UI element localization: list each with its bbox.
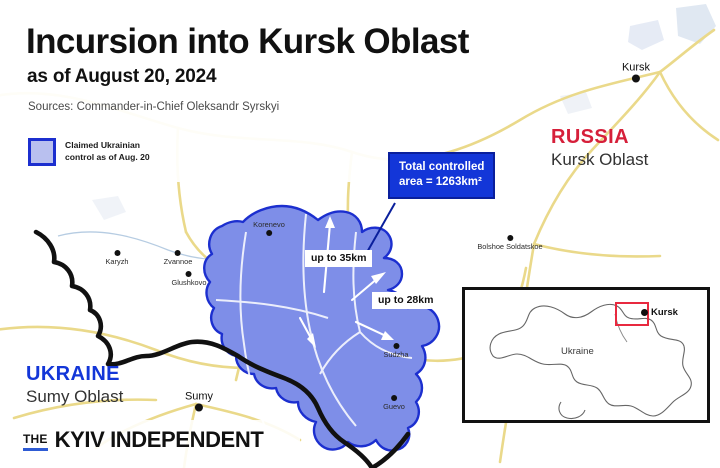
total-area-text: Total controlled area = 1263km² — [399, 160, 484, 190]
city-dot — [195, 404, 203, 412]
russia-name: RUSSIA — [551, 126, 648, 149]
inset-ukraine-label: Ukraine — [561, 346, 594, 357]
city-label-guevo: Guevo — [383, 395, 405, 411]
city-dot — [175, 250, 181, 256]
city-label-glushkovo: Glushkovo — [172, 271, 207, 287]
city-label-kursk: Kursk — [622, 62, 650, 83]
city-dot — [114, 250, 120, 256]
ukraine-name: UKRAINE — [26, 363, 123, 386]
city-name: Korenevo — [253, 220, 285, 229]
city-name: Guevo — [383, 402, 405, 411]
city-name: Karyzh — [105, 257, 128, 266]
city-name: Glushkovo — [172, 278, 207, 287]
logo-wordmark: KYIV INDEPENDENT — [55, 429, 264, 451]
depth-label-east: up to 28km — [372, 292, 439, 309]
inset-kursk-dot — [641, 309, 648, 316]
city-label-sudzha: Sudzha — [383, 343, 408, 359]
city-label-bolshoe-soldatskoe: Bolshoe Soldatskoe — [477, 235, 542, 251]
city-dot — [632, 75, 640, 83]
inset-locator-map: Kursk Ukraine — [462, 287, 710, 423]
legend: Claimed Ukrainian control as of Aug. 20 — [28, 138, 150, 166]
legend-label: Claimed Ukrainian control as of Aug. 20 — [65, 140, 150, 163]
map-infographic: Incursion into Kursk Oblast as of August… — [0, 0, 720, 468]
city-dot — [391, 395, 397, 401]
city-label-karyzh: Karyzh — [105, 250, 128, 266]
city-name: Zvannoe — [164, 257, 193, 266]
total-area-callout: Total controlled area = 1263km² — [388, 152, 495, 199]
ukraine-region: Sumy Oblast — [26, 387, 123, 407]
depth-label-north: up to 35km — [305, 250, 372, 267]
country-label-russia: RUSSIA Kursk Oblast — [551, 126, 648, 170]
logo-the-word: THE — [23, 433, 48, 451]
city-label-korenevo: Korenevo — [253, 220, 285, 236]
city-name: Sudzha — [383, 350, 408, 359]
page-subtitle: as of August 20, 2024 — [27, 66, 216, 88]
city-dot — [507, 235, 513, 241]
inset-kursk-label: Kursk — [651, 307, 678, 318]
russia-region: Kursk Oblast — [551, 150, 648, 170]
kyiv-independent-logo: THE KYIV INDEPENDENT — [23, 429, 263, 451]
sources-line: Sources: Commander-in-Chief Oleksandr Sy… — [28, 101, 279, 113]
legend-color-swatch — [28, 138, 56, 166]
city-label-sumy: Sumy — [185, 391, 213, 412]
country-label-ukraine: UKRAINE Sumy Oblast — [26, 363, 123, 407]
city-label-zvannoe: Zvannoe — [164, 250, 193, 266]
page-title: Incursion into Kursk Oblast — [26, 22, 469, 62]
city-name: Bolshoe Soldatskoe — [477, 242, 542, 251]
city-dot — [266, 230, 272, 236]
city-name: Sumy — [185, 391, 213, 403]
city-dot — [393, 343, 399, 349]
city-dot — [186, 271, 192, 277]
city-name: Kursk — [622, 62, 650, 74]
